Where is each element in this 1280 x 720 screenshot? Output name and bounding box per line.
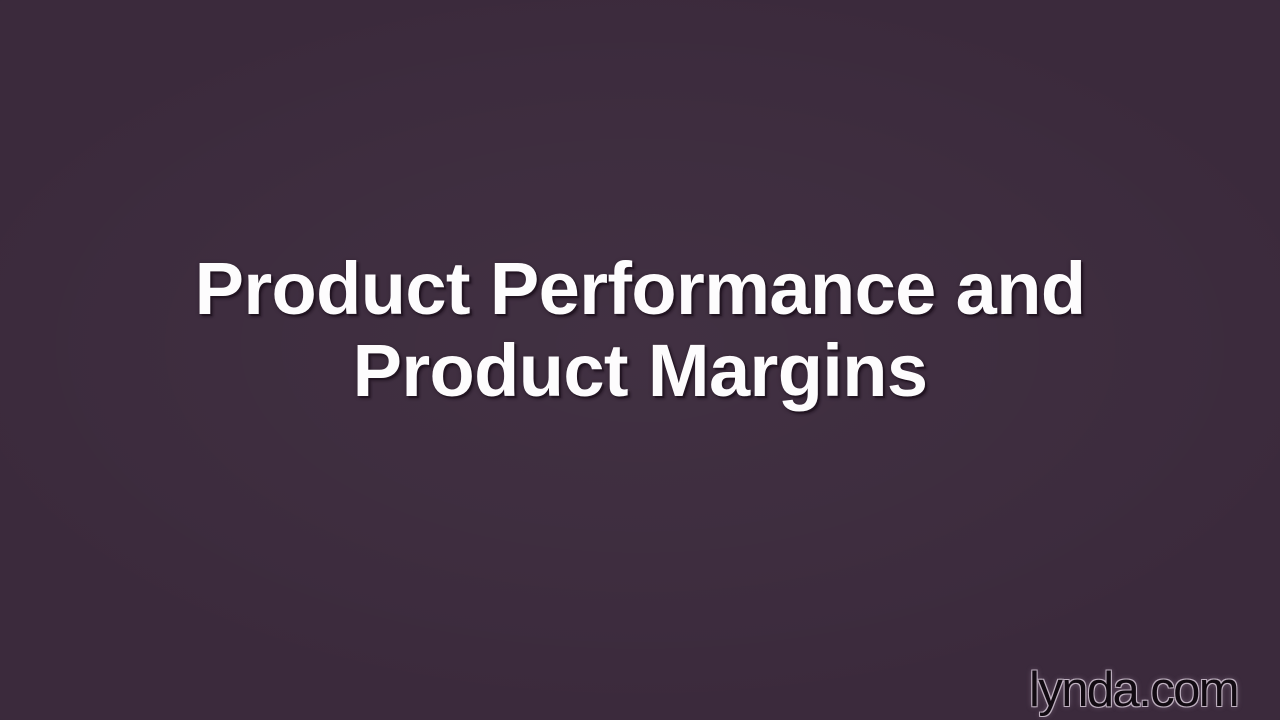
title-card-slide: Product Performance and Product Margins … (0, 0, 1280, 720)
lynda-logo-dot: . (1138, 663, 1150, 717)
title-line-1: Product Performance and (40, 248, 1240, 330)
title-line-2: Product Margins (40, 330, 1240, 412)
lynda-logo-tld: com (1150, 663, 1238, 717)
lynda-logo-name: lynda (1029, 663, 1138, 717)
lynda-com-logo: lynda.com (1029, 662, 1238, 718)
title-block: Product Performance and Product Margins (0, 248, 1280, 412)
